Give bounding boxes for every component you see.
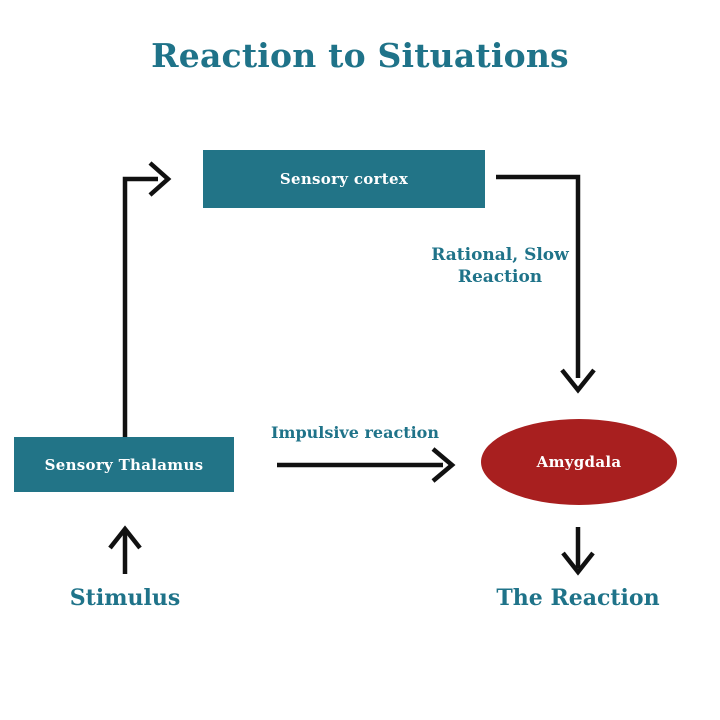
edge-amygdala-to-reaction: [563, 527, 593, 572]
edge-layer: [0, 0, 720, 720]
edge-thalamus-to-cortex: [125, 163, 168, 437]
node-sensory-cortex-label: Sensory cortex: [280, 170, 408, 188]
edge-stimulus-to-thalamus: [110, 529, 140, 574]
node-sensory-cortex[interactable]: Sensory cortex: [203, 150, 485, 208]
edge-label-rational-slow-line1: Rational, Slow: [398, 245, 602, 267]
terminal-label-stimulus: Stimulus: [25, 585, 225, 611]
node-sensory-thalamus[interactable]: Sensory Thalamus: [14, 437, 234, 492]
edge-label-impulsive-reaction: Impulsive reaction: [253, 423, 457, 443]
terminal-label-the-reaction: The Reaction: [478, 585, 678, 611]
node-sensory-thalamus-label: Sensory Thalamus: [45, 456, 204, 474]
diagram-canvas: Reaction to Situations Sensory corte: [0, 0, 720, 720]
node-amygdala-label: Amygdala: [537, 453, 622, 471]
edge-label-rational-slow-line2: Reaction: [398, 267, 602, 289]
node-amygdala[interactable]: Amygdala: [481, 419, 677, 505]
edge-label-rational-slow-reaction: Rational, Slow Reaction: [398, 245, 602, 289]
edge-thalamus-to-amygdala: [277, 449, 452, 481]
